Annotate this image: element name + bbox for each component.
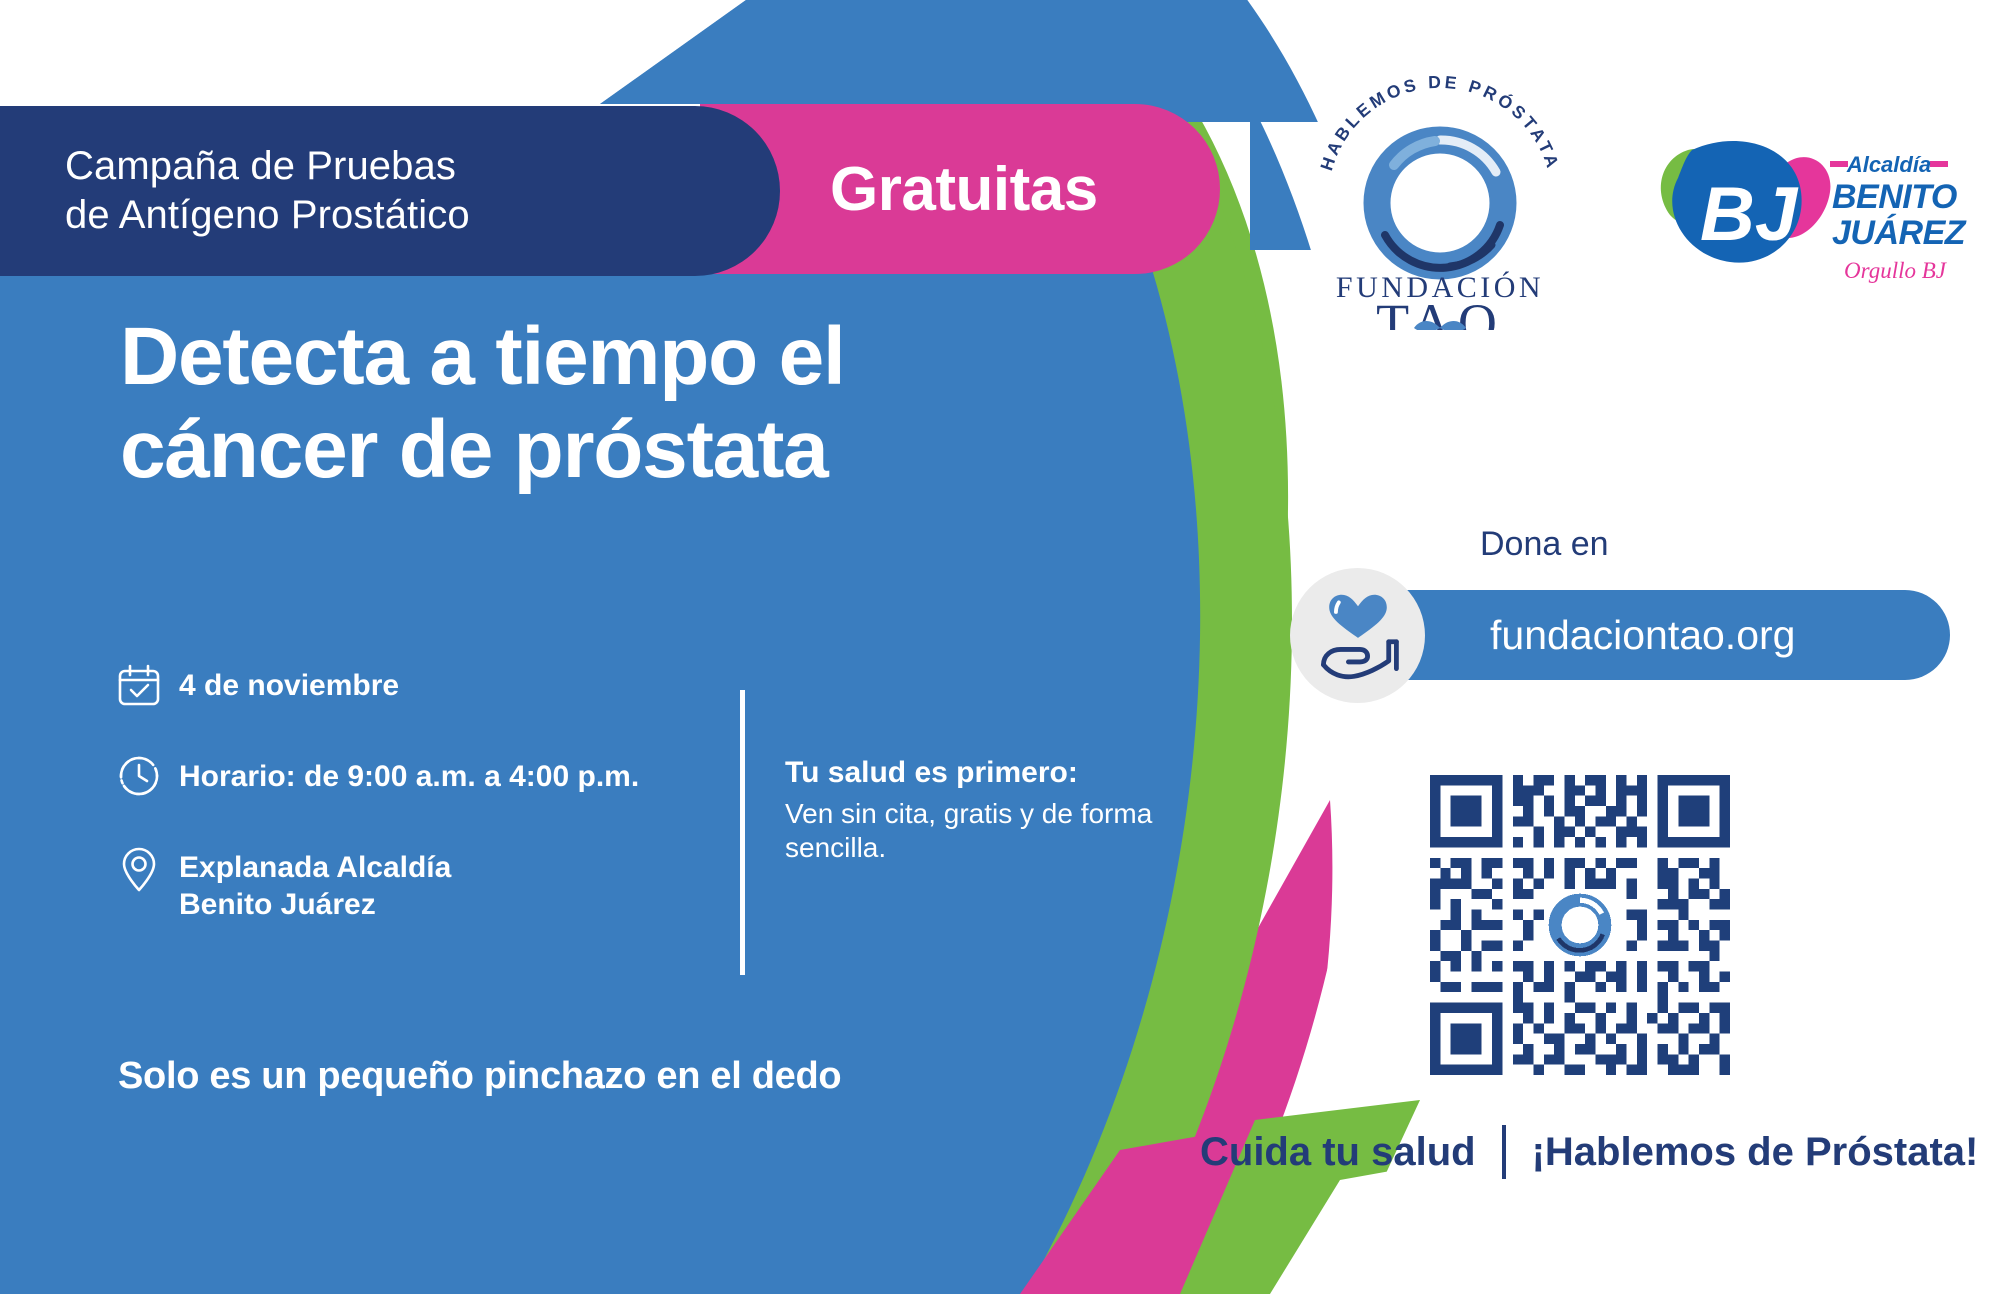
tao-brushstroke-circle-icon: [1377, 140, 1503, 268]
qr-code-svg[interactable]: [1430, 775, 1730, 1075]
fundacion-tao-logo: HABLEMOS DE PRÓSTATA FUNDACIÓN TAO: [1300, 60, 1580, 330]
qr-code[interactable]: [1430, 775, 1730, 1075]
bj-logo-svg: BJ Alcaldía BENITO JUÁREZ Orgullo BJ: [1640, 120, 1970, 290]
headline-line-1: Detecta a tiempo el: [120, 310, 1100, 403]
hand-heart-icon: [1310, 588, 1406, 684]
bj-alcaldia: Alcaldía: [1846, 152, 1931, 177]
calendar-check-icon: [115, 661, 163, 714]
campaign-line-2: de Antígeno Prostático: [65, 191, 470, 240]
headline: Detecta a tiempo el cáncer de próstata: [120, 310, 1100, 497]
bj-name-line-2: JUÁREZ: [1832, 214, 1967, 252]
event-details-list: 4 de noviembre Horario: de 9:00 a.m. a 4…: [115, 665, 735, 923]
tao-logo-svg: HABLEMOS DE PRÓSTATA FUNDACIÓN TAO: [1300, 60, 1580, 330]
campaign-banner: Campaña de Pruebas de Antígeno Prostátic…: [0, 106, 780, 276]
detail-row-time: Horario: de 9:00 a.m. a 4:00 p.m.: [115, 756, 735, 805]
side-note-body: Ven sin cita, gratis y de forma sencilla…: [785, 797, 1185, 865]
donate-icon-badge: [1290, 568, 1425, 703]
tagline-left: Solo es un pequeño pinchazo en el dedo: [118, 1055, 841, 1098]
side-note-title: Tu salud es primero:: [785, 755, 1185, 791]
tagline-bottom-left: Cuida tu salud: [1200, 1130, 1476, 1175]
detail-row-date: 4 de noviembre: [115, 665, 735, 714]
side-note: Tu salud es primero: Ven sin cita, grati…: [785, 755, 1185, 865]
detail-date-text: 4 de noviembre: [179, 665, 399, 704]
donate-label: Dona en: [1480, 525, 1609, 564]
bj-name-line-1: BENITO: [1832, 178, 1957, 216]
location-pin-icon: [115, 843, 163, 900]
bj-slogan: Orgullo BJ: [1844, 258, 1948, 283]
bj-monogram: BJ: [1700, 172, 1799, 257]
tagline-separator: [1502, 1125, 1506, 1179]
tagline-bottom-right: ¡Hablemos de Próstata!: [1532, 1130, 1979, 1175]
tagline-bottom: Cuida tu salud ¡Hablemos de Próstata!: [1200, 1125, 1978, 1179]
detail-location-text: Explanada Alcaldía Benito Juárez: [179, 847, 451, 923]
poster-canvas: Campaña de Pruebas de Antígeno Prostátic…: [0, 0, 2000, 1294]
detail-row-location: Explanada Alcaldía Benito Juárez: [115, 847, 735, 923]
tao-arc-text: HABLEMOS DE PRÓSTATA: [1316, 72, 1564, 173]
clock-icon: [115, 752, 163, 805]
campaign-line-1: Campaña de Pruebas: [65, 142, 470, 191]
headline-line-2: cáncer de próstata: [120, 403, 1100, 496]
detail-time-text: Horario: de 9:00 a.m. a 4:00 p.m.: [179, 756, 639, 795]
campaign-banner-text: Campaña de Pruebas de Antígeno Prostátic…: [0, 142, 470, 240]
benito-juarez-logo: BJ Alcaldía BENITO JUÁREZ Orgullo BJ: [1640, 120, 1970, 290]
vertical-divider: [740, 690, 745, 975]
tao-name-bottom: TAO: [1376, 293, 1504, 330]
